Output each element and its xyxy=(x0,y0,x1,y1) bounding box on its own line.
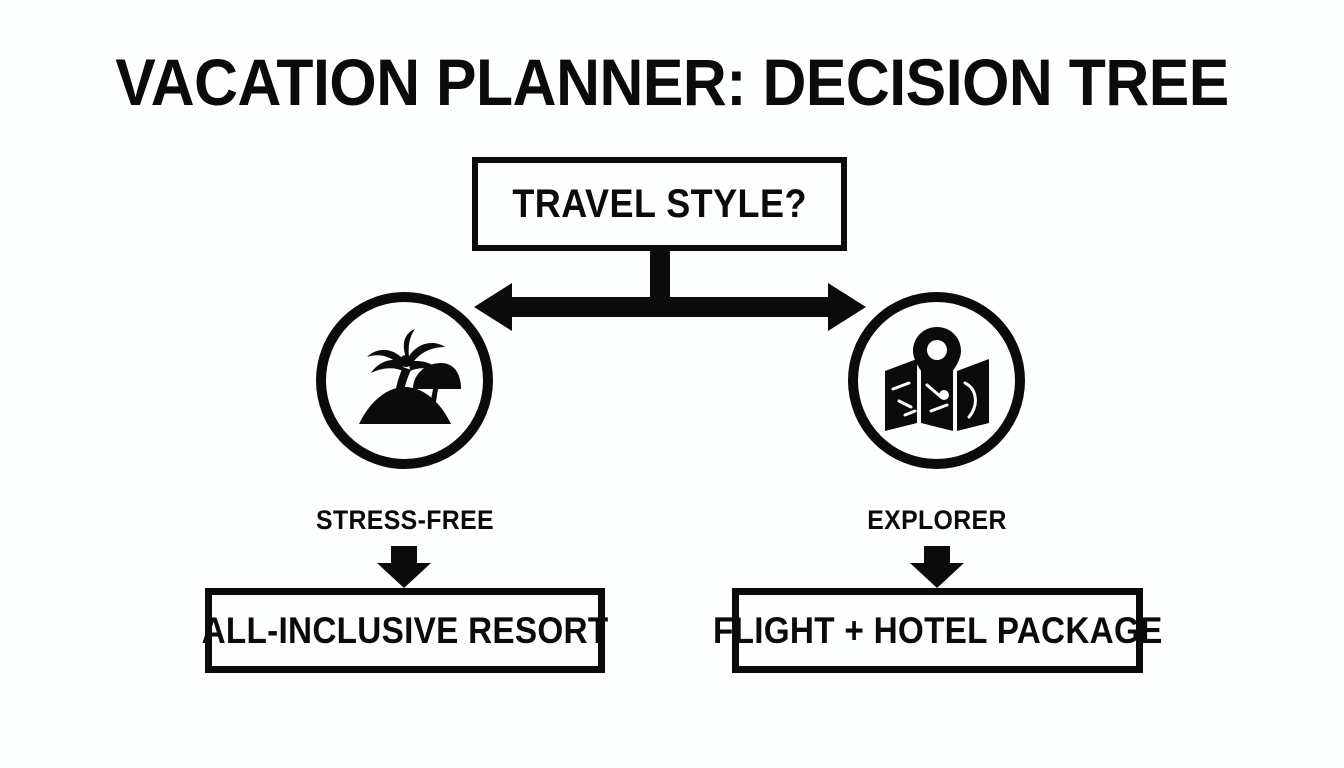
left-branch-arrow-shaft xyxy=(391,546,417,568)
decision-node-travel-style[interactable]: TRAVEL STYLE? xyxy=(472,157,847,251)
folded-map-pin-icon xyxy=(881,327,993,435)
right-branch-arrow-shaft xyxy=(924,546,950,568)
page-title: VACATION PLANNER: DECISION TREE xyxy=(54,46,1290,118)
result-node-label-left: ALL-INCLUSIVE RESORT xyxy=(202,610,609,652)
split-arrow-head-right xyxy=(828,283,866,331)
decision-node-label: TRAVEL STYLE? xyxy=(512,182,807,227)
right-branch-arrow-head xyxy=(910,563,964,588)
result-node-flight-hotel-package[interactable]: FLIGHT + HOTEL PACKAGE xyxy=(732,588,1143,673)
result-node-all-inclusive-resort[interactable]: ALL-INCLUSIVE RESORT xyxy=(205,588,605,673)
result-node-label-right: FLIGHT + HOTEL PACKAGE xyxy=(713,610,1163,652)
palm-tree-beach-icon xyxy=(349,329,461,433)
left-branch-arrow-head xyxy=(377,563,431,588)
branch-icon-circle-stress-free[interactable] xyxy=(316,292,493,469)
split-arrow-head-left xyxy=(474,283,512,331)
decision-tree-diagram: VACATION PLANNER: DECISION TREE TRAVEL S… xyxy=(0,0,1344,768)
root-stem-connector xyxy=(650,251,670,301)
branch-label-stress-free: STRESS-FREE xyxy=(267,505,543,535)
split-arrow-shaft xyxy=(500,297,840,317)
branch-label-explorer: EXPLORER xyxy=(799,505,1075,535)
branch-icon-circle-explorer[interactable] xyxy=(848,292,1025,469)
